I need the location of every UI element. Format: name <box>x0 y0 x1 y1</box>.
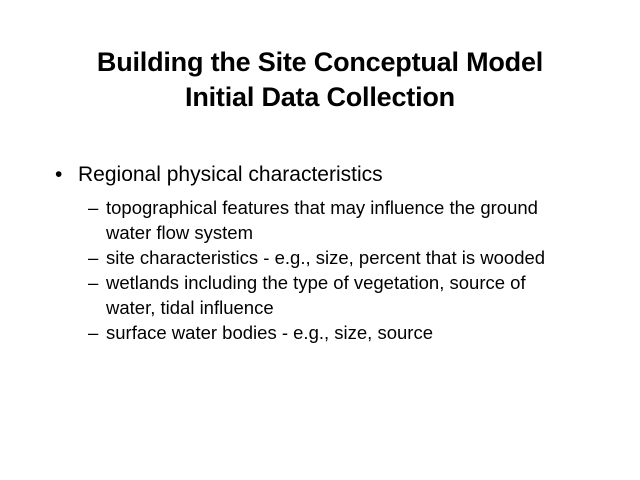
slide-title: Building the Site Conceptual Model Initi… <box>0 45 640 115</box>
sub-bullet-item: – site characteristics - e.g., size, per… <box>0 245 640 270</box>
bullet-dot-icon: • <box>55 160 62 190</box>
bullet-level1: • Regional physical characteristics <box>0 160 640 190</box>
dash-icon: – <box>88 195 98 220</box>
sub-bullet-item: – topographical features that may influe… <box>0 195 640 245</box>
sub-bullet-text: topographical features that may influenc… <box>106 195 578 245</box>
sub-bullet-list: – topographical features that may influe… <box>0 195 640 345</box>
dash-icon: – <box>88 245 98 270</box>
dash-icon: – <box>88 320 98 345</box>
bullet-level1-text: Regional physical characteristics <box>78 160 640 190</box>
sub-bullet-text: site characteristics - e.g., size, perce… <box>106 245 578 270</box>
dash-icon: – <box>88 270 98 295</box>
sub-bullet-item: – wetlands including the type of vegetat… <box>0 270 640 320</box>
slide-canvas: Building the Site Conceptual Model Initi… <box>0 0 640 480</box>
sub-bullet-item: – surface water bodies - e.g., size, sou… <box>0 320 640 345</box>
slide-body: • Regional physical characteristics – to… <box>0 160 640 345</box>
title-line-1: Building the Site Conceptual Model <box>0 45 640 80</box>
sub-bullet-text: wetlands including the type of vegetatio… <box>106 270 578 320</box>
title-line-2: Initial Data Collection <box>0 80 640 115</box>
sub-bullet-text: surface water bodies - e.g., size, sourc… <box>106 320 578 345</box>
